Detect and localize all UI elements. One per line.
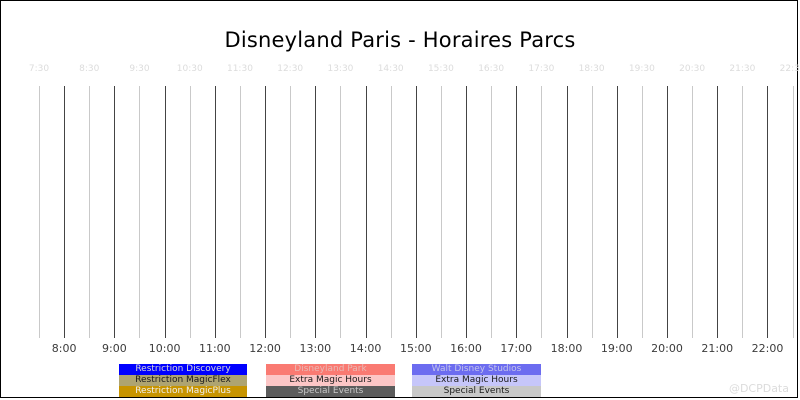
legend-item[interactable]: Special Events (266, 386, 395, 397)
top-tick-label: 22:30 (780, 64, 800, 74)
gridline-minor (340, 86, 341, 338)
gridline-major (667, 86, 668, 338)
gridline-major (114, 86, 115, 338)
gridline-minor (290, 86, 291, 338)
legend-item[interactable]: Disneyland Park (266, 364, 395, 375)
bottom-tick-label: 8:00 (52, 342, 77, 355)
bottom-tick-label: 22:00 (752, 342, 784, 355)
gridline-major (315, 86, 316, 338)
top-tick-label: 17:30 (528, 64, 554, 74)
gridline-minor (491, 86, 492, 338)
legend-column-restrictions: Restriction DiscoveryRestriction MagicFl… (119, 364, 247, 397)
plot-area: 7:308:309:3010:3011:3012:3013:3014:3015:… (1, 61, 799, 356)
gridline-minor (139, 86, 140, 338)
top-tick-label: 12:30 (277, 64, 303, 74)
gridline-major (366, 86, 367, 338)
gridline-major (416, 86, 417, 338)
top-tick-label: 13:30 (327, 64, 353, 74)
gridline-major (617, 86, 618, 338)
gridline-major (717, 86, 718, 338)
top-tick-label: 18:30 (579, 64, 605, 74)
top-tick-label: 7:30 (29, 64, 49, 74)
bottom-tick-label: 20:00 (651, 342, 683, 355)
top-tick-label: 15:30 (428, 64, 454, 74)
page-title: Disneyland Paris - Horaires Parcs (1, 28, 799, 52)
gridline-minor (190, 86, 191, 338)
bottom-tick-label: 15:00 (400, 342, 432, 355)
gridline-minor (541, 86, 542, 338)
gridline-major (165, 86, 166, 338)
top-tick-label: 16:30 (478, 64, 504, 74)
legend-column-walt-disney-studios: Walt Disney StudiosExtra Magic HoursSpec… (412, 364, 541, 397)
top-tick-label: 19:30 (629, 64, 655, 74)
gridline-minor (89, 86, 90, 338)
chart-frame: Disneyland Paris - Horaires Parcs 7:308:… (0, 0, 798, 398)
top-tick-label: 10:30 (177, 64, 203, 74)
watermark: @DCPData (729, 382, 789, 395)
bottom-tick-label: 18:00 (551, 342, 583, 355)
gridline-minor (240, 86, 241, 338)
legend-column-disneyland-park: Disneyland ParkExtra Magic HoursSpecial … (266, 364, 395, 397)
bottom-tick-label: 11:00 (199, 342, 231, 355)
gridline-major (516, 86, 517, 338)
gridline-minor (793, 86, 794, 338)
bottom-tick-label: 12:00 (249, 342, 281, 355)
gridline-major (567, 86, 568, 338)
legend-item[interactable]: Special Events (412, 386, 541, 397)
top-tick-label: 20:30 (679, 64, 705, 74)
bottom-tick-label: 10:00 (149, 342, 181, 355)
gridline-major (767, 86, 768, 338)
legend-item[interactable]: Restriction Discovery (119, 364, 247, 375)
legend-item[interactable]: Walt Disney Studios (412, 364, 541, 375)
gridline-minor (391, 86, 392, 338)
gridline-major (466, 86, 467, 338)
legend-item[interactable]: Extra Magic Hours (412, 375, 541, 386)
bottom-tick-label: 21:00 (701, 342, 733, 355)
top-tick-label: 11:30 (227, 64, 253, 74)
legend: Restriction DiscoveryRestriction MagicFl… (1, 364, 799, 398)
gridline-minor (441, 86, 442, 338)
top-tick-label: 21:30 (729, 64, 755, 74)
gridline-minor (742, 86, 743, 338)
gridline-major (215, 86, 216, 338)
gridline-major (64, 86, 65, 338)
gridline-major (265, 86, 266, 338)
legend-item[interactable]: Extra Magic Hours (266, 375, 395, 386)
bottom-tick-label: 14:00 (350, 342, 382, 355)
top-tick-label: 9:30 (129, 64, 149, 74)
top-tick-label: 14:30 (378, 64, 404, 74)
top-tick-label: 8:30 (79, 64, 99, 74)
bottom-tick-label: 9:00 (102, 342, 127, 355)
bottom-tick-label: 17:00 (500, 342, 532, 355)
legend-item[interactable]: Restriction MagicFlex (119, 375, 247, 386)
gridline-minor (39, 86, 40, 338)
gridline-minor (642, 86, 643, 338)
bottom-tick-label: 19:00 (601, 342, 633, 355)
bottom-tick-label: 13:00 (299, 342, 331, 355)
gridline-minor (592, 86, 593, 338)
legend-item[interactable]: Restriction MagicPlus (119, 386, 247, 397)
gridline-minor (692, 86, 693, 338)
bottom-tick-label: 16:00 (450, 342, 482, 355)
